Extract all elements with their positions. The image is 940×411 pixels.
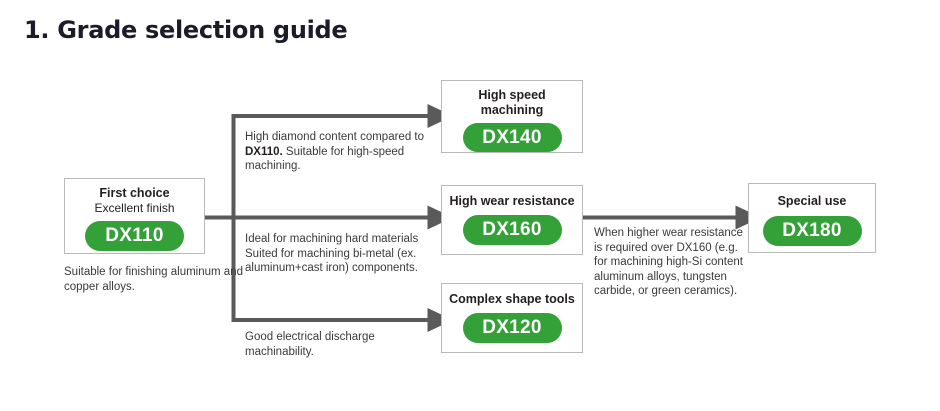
grade-box-high-speed-machining[interactable]: High speed machining DX140 <box>441 80 583 153</box>
complex-shape-heading: Complex shape tools <box>449 292 575 307</box>
diagram-canvas: 1. Grade selection guide First choice Ex… <box>0 0 940 411</box>
grade-pill-dx120[interactable]: DX120 <box>463 313 562 343</box>
grade-box-high-wear-resistance[interactable]: High wear resistance DX160 <box>441 185 583 255</box>
note-complex-shape: Good electrical discharge machinability. <box>245 330 435 359</box>
grade-box-first-choice[interactable]: First choice Excellent finish DX110 <box>64 178 205 254</box>
note-high-wear: Ideal for machining hard materials Suite… <box>245 232 435 276</box>
grade-box-special-use[interactable]: Special use DX180 <box>748 183 876 253</box>
note-special-use: When higher wear resistance is required … <box>594 226 744 299</box>
special-use-heading: Special use <box>778 194 847 209</box>
first-choice-subheading: Excellent finish <box>94 201 174 216</box>
grade-pill-dx140[interactable]: DX140 <box>463 123 562 152</box>
page-title: 1. Grade selection guide <box>24 16 347 44</box>
grade-pill-dx160[interactable]: DX160 <box>463 215 562 245</box>
note-high-speed: High diamond content compared to DX110. … <box>245 130 435 174</box>
note-high-speed-prefix: High diamond content compared to <box>245 131 424 143</box>
grade-pill-dx180[interactable]: DX180 <box>763 216 862 246</box>
grade-box-complex-shape-tools[interactable]: Complex shape tools DX120 <box>441 283 583 353</box>
grade-pill-dx110[interactable]: DX110 <box>85 221 184 251</box>
note-first-choice: Suitable for finishing aluminum and copp… <box>64 265 244 294</box>
first-choice-heading: First choice <box>99 186 169 201</box>
high-wear-heading: High wear resistance <box>449 194 574 209</box>
note-high-speed-bold: DX110. <box>245 146 283 158</box>
high-speed-heading: High speed machining <box>478 88 545 118</box>
